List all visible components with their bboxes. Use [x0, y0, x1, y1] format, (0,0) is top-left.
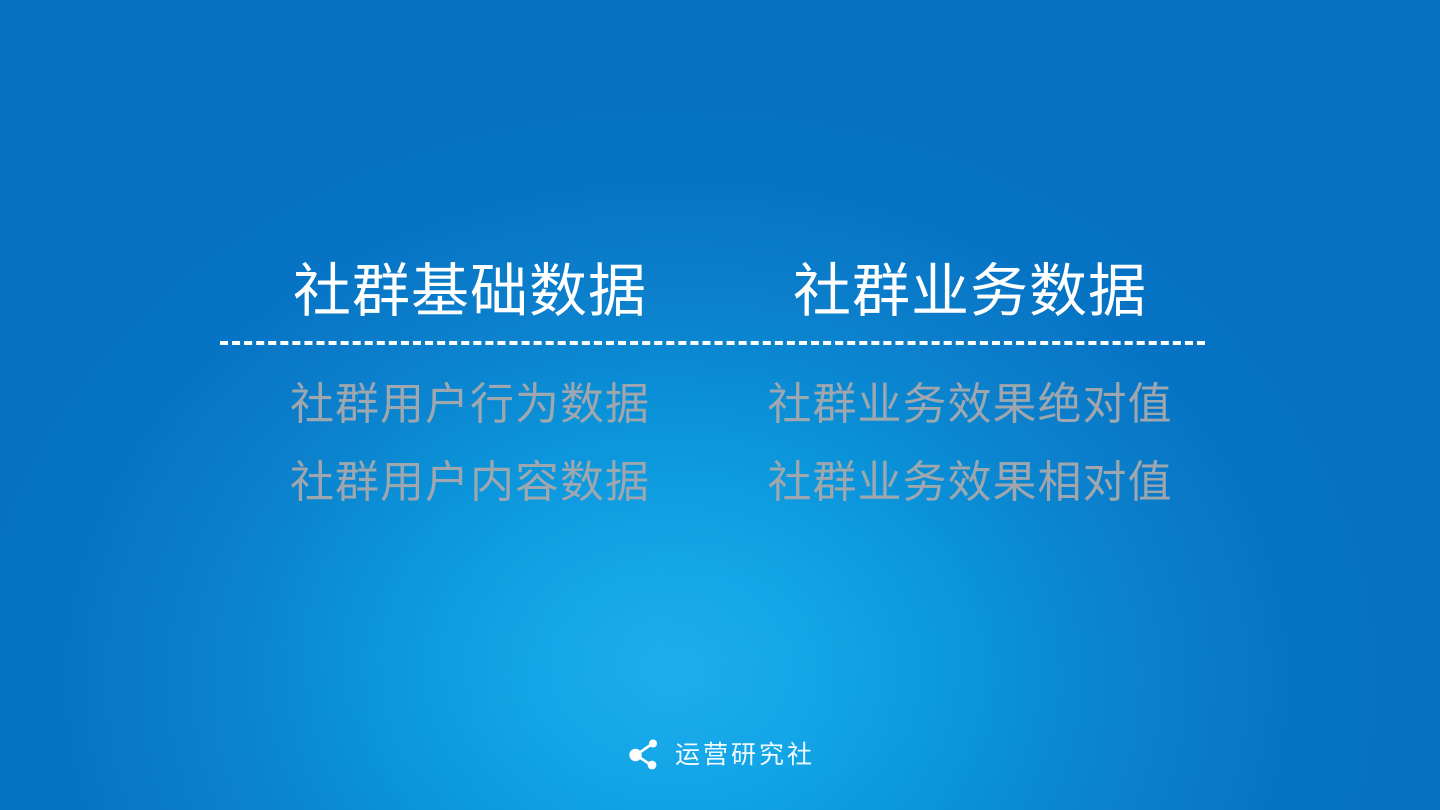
share-nodes-icon	[625, 735, 675, 773]
column-heading-basic: 社群基础数据	[220, 258, 720, 325]
subitems-row: 社群用户内容数据 社群业务效果相对值	[220, 445, 1220, 523]
slide-canvas: 社群基础数据 社群业务数据 社群用户行为数据 社群业务效果绝对值 社群用户内容数…	[0, 0, 1440, 810]
subitems-row: 社群用户行为数据 社群业务效果绝对值	[220, 367, 1220, 445]
footer-brand: 运营研究社	[0, 735, 1440, 773]
dashed-divider	[220, 341, 1205, 345]
subitem-business-1: 社群业务效果绝对值	[720, 379, 1220, 432]
subitem-business-2: 社群业务效果相对值	[720, 457, 1220, 510]
headings-row: 社群基础数据 社群业务数据	[220, 258, 1220, 325]
subitems-grid: 社群用户行为数据 社群业务效果绝对值 社群用户内容数据 社群业务效果相对值	[220, 367, 1220, 523]
subitem-basic-2: 社群用户内容数据	[220, 457, 720, 510]
subitem-basic-1: 社群用户行为数据	[220, 379, 720, 432]
slide-content: 社群基础数据 社群业务数据 社群用户行为数据 社群业务效果绝对值 社群用户内容数…	[180, 258, 1260, 523]
column-heading-business: 社群业务数据	[720, 258, 1220, 325]
brand-name-label: 运营研究社	[675, 742, 815, 767]
